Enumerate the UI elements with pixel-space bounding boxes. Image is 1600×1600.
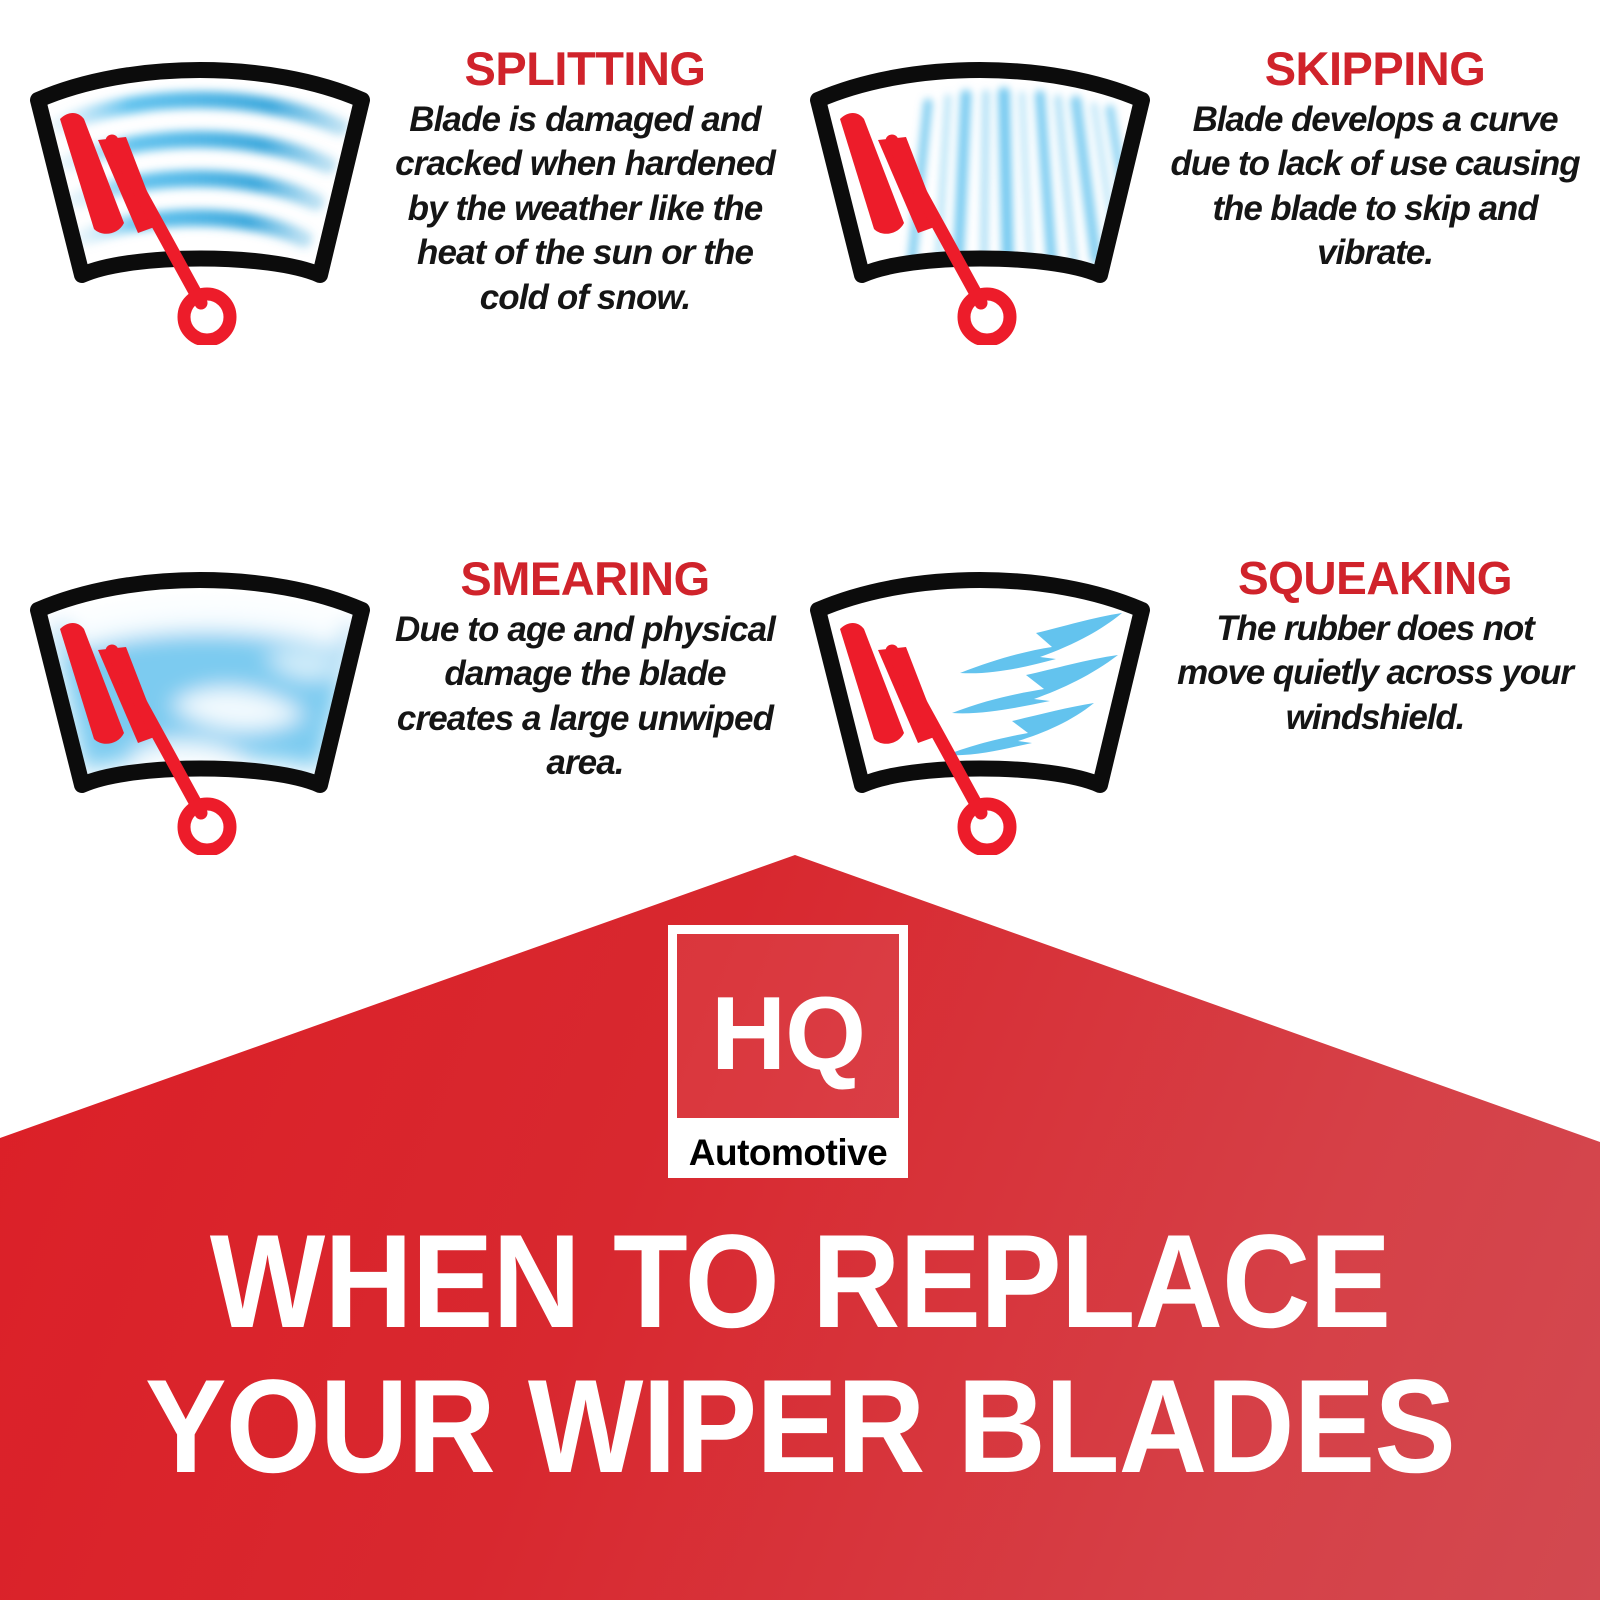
tip-text-splitting: SPLITTING Blade is damaged and cracked w…: [380, 45, 780, 320]
logo-mark-text: HQ: [668, 925, 908, 1127]
tip-description: Due to age and physical damage the blade…: [390, 608, 780, 786]
windshield-wiper-streaks-icon: [800, 45, 1160, 345]
infographic-page: SPLITTING Blade is damaged and cracked w…: [0, 0, 1600, 1600]
tip-card-splitting: SPLITTING Blade is damaged and cracked w…: [20, 45, 780, 345]
tip-description: Blade develops a curve due to lack of us…: [1170, 98, 1580, 276]
windshield-wiper-zigzag-icon: [800, 555, 1160, 855]
tip-title: SPLITTING: [390, 45, 780, 92]
windshield-wiper-smear-icon: [20, 555, 380, 855]
hq-automotive-logo: HQ Automotive: [668, 925, 908, 1178]
tip-text-smearing: SMEARING Due to age and physical damage …: [380, 555, 780, 786]
headline-line-2: YOUR WIPER BLADES: [64, 1355, 1536, 1500]
tip-title: SQUEAKING: [1170, 555, 1580, 601]
headline-line-1: WHEN TO REPLACE: [64, 1210, 1536, 1355]
windshield-wiper-arcs-icon: [20, 45, 380, 345]
page-title: WHEN TO REPLACE YOUR WIPER BLADES: [0, 1210, 1600, 1500]
tip-title: SKIPPING: [1170, 45, 1580, 92]
tip-text-squeaking: SQUEAKING The rubber does not move quiet…: [1160, 555, 1580, 740]
tip-title: SMEARING: [390, 555, 780, 602]
tip-card-squeaking: SQUEAKING The rubber does not move quiet…: [800, 555, 1580, 855]
tip-card-smearing: SMEARING Due to age and physical damage …: [20, 555, 780, 855]
tip-description: Blade is damaged and cracked when harden…: [390, 98, 780, 320]
tip-text-skipping: SKIPPING Blade develops a curve due to l…: [1160, 45, 1580, 276]
tips-grid: SPLITTING Blade is damaged and cracked w…: [0, 0, 1600, 880]
tip-description: The rubber does not move quietly across …: [1170, 607, 1580, 740]
tip-card-skipping: SKIPPING Blade develops a curve due to l…: [800, 45, 1580, 345]
logo-subtitle: Automotive: [668, 1127, 908, 1178]
